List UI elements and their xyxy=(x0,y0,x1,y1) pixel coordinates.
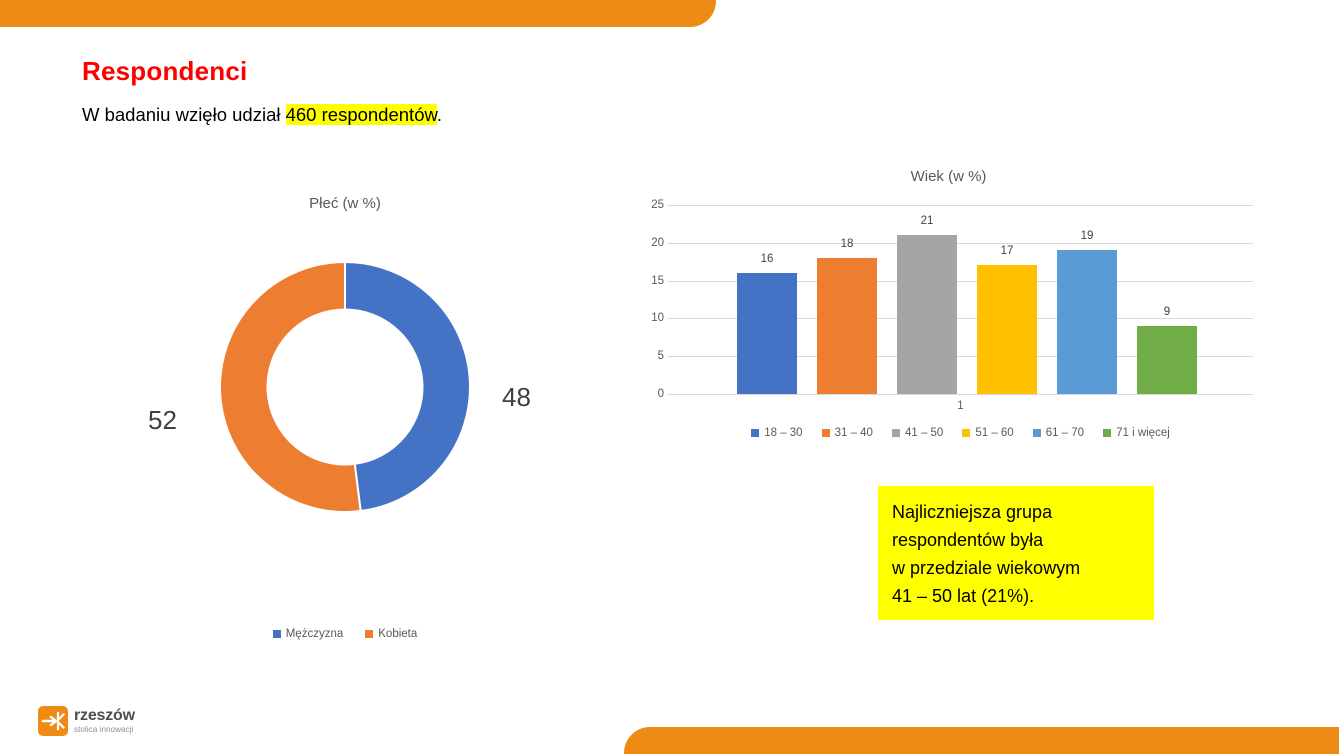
bar-chart-legend: 18 – 3031 – 4041 – 5051 – 6061 – 7071 i … xyxy=(668,427,1253,439)
callout-line-3: w przedziale wiekowym xyxy=(892,554,1140,582)
legend-swatch-icon xyxy=(751,429,759,437)
bar-value-label: 18 xyxy=(841,238,854,250)
legend-swatch-icon xyxy=(962,429,970,437)
y-axis-tick-label: 5 xyxy=(658,350,664,362)
bar-value-label: 21 xyxy=(921,215,934,227)
logo-text-block: rzeszów stolica innowacji xyxy=(74,708,135,734)
doughnut-value-kobieta: 52 xyxy=(148,405,177,436)
subtitle-suffix: . xyxy=(437,104,442,125)
callout-line-2: respondentów była xyxy=(892,526,1140,554)
doughnut-value-mezczyzna: 48 xyxy=(502,382,531,413)
bar-1 xyxy=(737,273,797,394)
doughnut-legend-item[interactable]: Mężczyzna xyxy=(273,628,344,640)
gridline xyxy=(668,394,1253,395)
bar-legend-item[interactable]: 41 – 50 xyxy=(892,427,943,439)
doughnut-slice-mężczyzna xyxy=(345,262,470,511)
bar-legend-label: 18 – 30 xyxy=(764,427,802,439)
y-axis-tick-label: 10 xyxy=(651,312,664,324)
legend-swatch-icon xyxy=(365,630,373,638)
y-axis-tick-label: 0 xyxy=(658,388,664,400)
footer-logo: rzeszów stolica innowacji xyxy=(38,706,135,736)
bar-value-label: 17 xyxy=(1001,245,1014,257)
doughnut-legend-label: Kobieta xyxy=(378,628,417,640)
callout-box: Najliczniejsza grupa respondentów była w… xyxy=(878,486,1154,620)
legend-swatch-icon xyxy=(822,429,830,437)
y-axis-tick-label: 25 xyxy=(651,199,664,211)
doughnut-legend-item[interactable]: Kobieta xyxy=(365,628,417,640)
bar-6 xyxy=(1137,326,1197,394)
doughnut-legend: MężczyznaKobieta xyxy=(110,628,580,640)
doughnut-chart-title: Płeć (w %) xyxy=(110,195,580,212)
legend-swatch-icon xyxy=(1033,429,1041,437)
logo-name: rzeszów xyxy=(74,708,135,724)
doughnut-svg xyxy=(215,257,475,517)
bar-5 xyxy=(1057,250,1117,394)
bar-legend-label: 61 – 70 xyxy=(1046,427,1084,439)
bar-legend-item[interactable]: 51 – 60 xyxy=(962,427,1013,439)
bar-legend-label: 51 – 60 xyxy=(975,427,1013,439)
top-orange-banner xyxy=(0,0,716,27)
subtitle-highlight: 460 respondentów xyxy=(286,104,437,125)
bar-legend-item[interactable]: 31 – 40 xyxy=(822,427,873,439)
y-axis-tick-label: 20 xyxy=(651,237,664,249)
legend-swatch-icon xyxy=(892,429,900,437)
bar-value-label: 9 xyxy=(1164,306,1170,318)
age-bar-chart: Wiek (w %) 0510152025 16182117199 1 18 –… xyxy=(636,162,1261,452)
doughnut-ring xyxy=(215,257,475,517)
bar-legend-label: 41 – 50 xyxy=(905,427,943,439)
bar-2 xyxy=(817,258,877,394)
doughnut-slice-kobieta xyxy=(220,262,361,512)
bar-legend-label: 71 i więcej xyxy=(1116,427,1170,439)
bar-legend-item[interactable]: 71 i więcej xyxy=(1103,427,1170,439)
bar-legend-label: 31 – 40 xyxy=(835,427,873,439)
callout-line-4: 41 – 50 lat (21%). xyxy=(892,582,1140,610)
subtitle-prefix: W badaniu wzięło udział xyxy=(82,104,286,125)
doughnut-legend-label: Mężczyzna xyxy=(286,628,344,640)
gender-doughnut-chart: Płeć (w %) 52 48 MężczyznaKobieta xyxy=(110,185,580,655)
bar-chart-plot-area: 0510152025 16182117199 xyxy=(668,205,1253,394)
legend-swatch-icon xyxy=(1103,429,1111,437)
bar-chart-bars: 16182117199 xyxy=(668,205,1253,394)
bar-chart-x-category-label: 1 xyxy=(668,400,1253,412)
bar-3 xyxy=(897,235,957,394)
bar-legend-item[interactable]: 61 – 70 xyxy=(1033,427,1084,439)
bar-chart-title: Wiek (w %) xyxy=(636,168,1261,185)
bar-value-label: 19 xyxy=(1081,230,1094,242)
logo-tagline: stolica innowacji xyxy=(74,726,135,734)
callout-line-1: Najliczniejsza grupa xyxy=(892,498,1140,526)
y-axis-tick-label: 15 xyxy=(651,275,664,287)
rzeszow-arrow-icon xyxy=(38,706,68,736)
subtitle-text: W badaniu wzięło udział 460 respondentów… xyxy=(82,104,442,126)
bar-value-label: 16 xyxy=(761,253,774,265)
bar-4 xyxy=(977,265,1037,394)
legend-swatch-icon xyxy=(273,630,281,638)
bottom-orange-banner xyxy=(624,727,1339,754)
bar-legend-item[interactable]: 18 – 30 xyxy=(751,427,802,439)
page-title: Respondenci xyxy=(82,56,247,87)
